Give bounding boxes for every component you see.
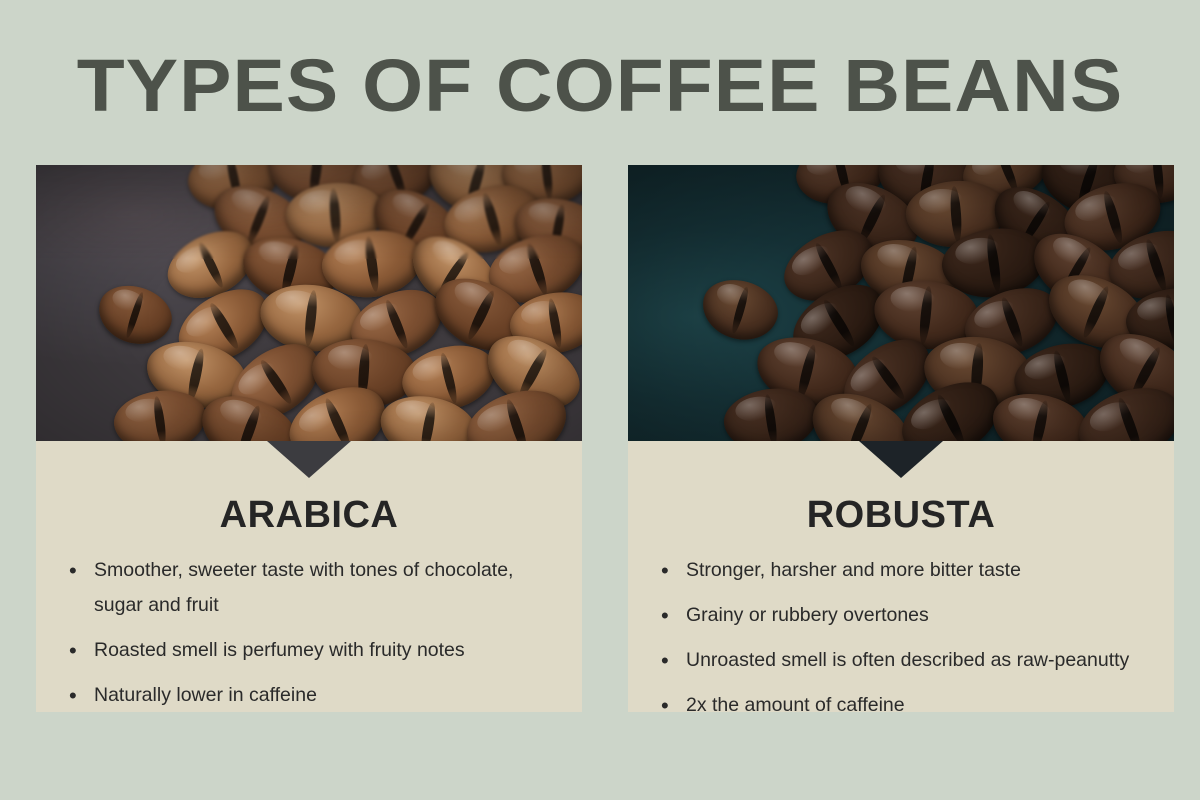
arabica-bean-cluster — [36, 165, 582, 441]
card-robusta: ROBUSTA Stronger, harsher and more bitte… — [628, 165, 1174, 712]
robusta-card-body: ROBUSTA Stronger, harsher and more bitte… — [628, 441, 1174, 712]
robusta-heading: ROBUSTA — [646, 494, 1156, 536]
card-arabica: ARABICA Smoother, sweeter taste with ton… — [36, 165, 582, 712]
list-item: Smoother, sweeter taste with tones of ch… — [66, 553, 560, 623]
arabica-heading: ARABICA — [54, 494, 564, 536]
page-title: TYPES OF COFFEE BEANS — [0, 44, 1200, 128]
infographic-page: TYPES OF COFFEE BEANS — [0, 0, 1200, 800]
robusta-bean-cluster — [628, 165, 1174, 441]
list-item: Grainy or rubbery overtones — [658, 598, 1152, 633]
robusta-photo — [628, 165, 1174, 441]
arabica-card-body: ARABICA Smoother, sweeter taste with ton… — [36, 441, 582, 712]
list-item: Stronger, harsher and more bitter taste — [658, 553, 1152, 588]
list-item: Unroasted smell is often described as ra… — [658, 643, 1152, 678]
list-item: Roasted smell is perfumey with fruity no… — [66, 633, 560, 668]
arabica-bullet-list: Smoother, sweeter taste with tones of ch… — [54, 553, 564, 712]
robusta-bullet-list: Stronger, harsher and more bitter taste … — [646, 553, 1156, 712]
arabica-photo — [36, 165, 582, 441]
list-item: 2x the amount of caffeine — [658, 688, 1152, 712]
list-item: Naturally lower in caffeine — [66, 678, 560, 712]
